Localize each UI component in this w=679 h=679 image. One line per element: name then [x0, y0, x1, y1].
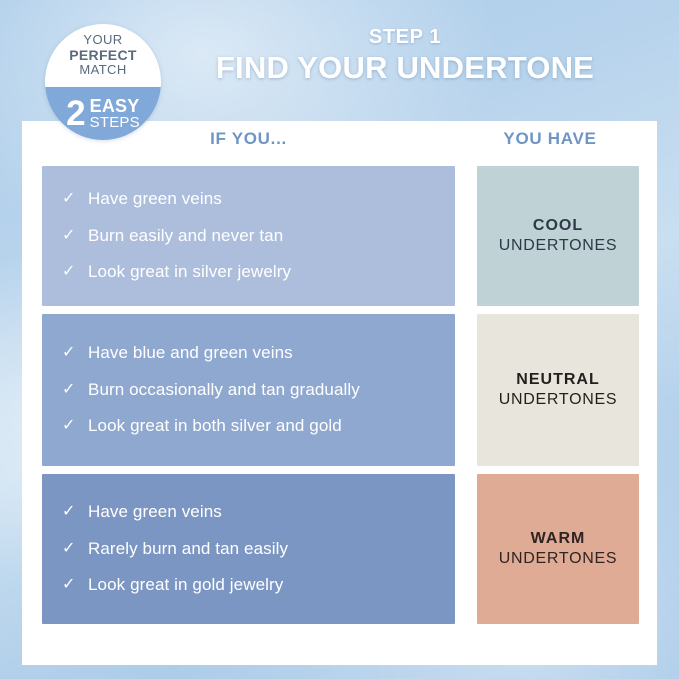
undertone-swatch: WARM UNDERTONES: [477, 474, 639, 624]
list-item: ✓ Have green veins: [62, 501, 437, 524]
undertone-infographic: STEP 1 FIND YOUR UNDERTONE YOUR PERFECT …: [0, 0, 679, 679]
trait-text: Look great in silver jewelry: [88, 261, 291, 284]
badge-top-section: YOUR PERFECT MATCH: [45, 24, 161, 87]
list-item: ✓ Burn easily and never tan: [62, 225, 437, 248]
check-icon: ✓: [62, 538, 88, 560]
badge-steps-text: STEPS: [90, 115, 140, 130]
traits-panel: ✓ Have blue and green veins ✓ Burn occas…: [42, 314, 455, 466]
check-icon: ✓: [62, 574, 88, 596]
check-icon: ✓: [62, 188, 88, 210]
trait-text: Look great in both silver and gold: [88, 415, 342, 438]
column-header-you-have: YOU HAVE: [462, 129, 638, 149]
table-row: ✓ Have blue and green veins ✓ Burn occas…: [42, 314, 639, 466]
page-title: FIND YOUR UNDERTONE: [170, 51, 640, 86]
badge-bottom-section: 2 EASY STEPS: [45, 87, 161, 140]
badge-steps-label: EASY STEPS: [90, 97, 140, 131]
undertone-swatch: NEUTRAL UNDERTONES: [477, 314, 639, 466]
trait-text: Rarely burn and tan easily: [88, 538, 288, 561]
undertone-subtitle: UNDERTONES: [499, 549, 617, 569]
traits-panel: ✓ Have green veins ✓ Burn easily and nev…: [42, 166, 455, 306]
table-row: ✓ Have green veins ✓ Burn easily and nev…: [42, 166, 639, 306]
list-item: ✓ Look great in silver jewelry: [62, 261, 437, 284]
list-item: ✓ Look great in gold jewelry: [62, 574, 437, 597]
step-label: STEP 1: [170, 26, 640, 48]
table-row: ✓ Have green veins ✓ Rarely burn and tan…: [42, 474, 639, 624]
check-icon: ✓: [62, 501, 88, 523]
undertone-rows: ✓ Have green veins ✓ Burn easily and nev…: [42, 166, 639, 624]
trait-text: Burn occasionally and tan gradually: [88, 379, 360, 402]
list-item: ✓ Look great in both silver and gold: [62, 415, 437, 438]
check-icon: ✓: [62, 342, 88, 364]
check-icon: ✓: [62, 379, 88, 401]
undertone-name: COOL: [533, 216, 583, 236]
badge-easy-text: EASY: [90, 97, 140, 115]
undertone-swatch: COOL UNDERTONES: [477, 166, 639, 306]
trait-text: Have blue and green veins: [88, 342, 293, 365]
check-icon: ✓: [62, 415, 88, 437]
undertone-subtitle: UNDERTONES: [499, 390, 617, 410]
undertone-subtitle: UNDERTONES: [499, 236, 617, 256]
traits-panel: ✓ Have green veins ✓ Rarely burn and tan…: [42, 474, 455, 624]
list-item: ✓ Burn occasionally and tan gradually: [62, 379, 437, 402]
list-item: ✓ Have blue and green veins: [62, 342, 437, 365]
badge-line-perfect: PERFECT: [69, 48, 136, 64]
trait-text: Look great in gold jewelry: [88, 574, 283, 597]
title-block: STEP 1 FIND YOUR UNDERTONE: [170, 26, 640, 86]
perfect-match-badge: YOUR PERFECT MATCH 2 EASY STEPS: [45, 24, 161, 140]
check-icon: ✓: [62, 225, 88, 247]
undertone-name: NEUTRAL: [516, 370, 599, 390]
trait-text: Burn easily and never tan: [88, 225, 283, 248]
list-item: ✓ Rarely burn and tan easily: [62, 538, 437, 561]
badge-step-count: 2: [66, 96, 85, 131]
badge-line-your: YOUR: [83, 33, 122, 48]
content-card: IF YOU... YOU HAVE ✓ Have green veins ✓ …: [22, 121, 657, 665]
trait-text: Have green veins: [88, 188, 222, 211]
undertone-name: WARM: [531, 529, 586, 549]
badge-line-match: MATCH: [79, 63, 126, 78]
trait-text: Have green veins: [88, 501, 222, 524]
list-item: ✓ Have green veins: [62, 188, 437, 211]
check-icon: ✓: [62, 261, 88, 283]
